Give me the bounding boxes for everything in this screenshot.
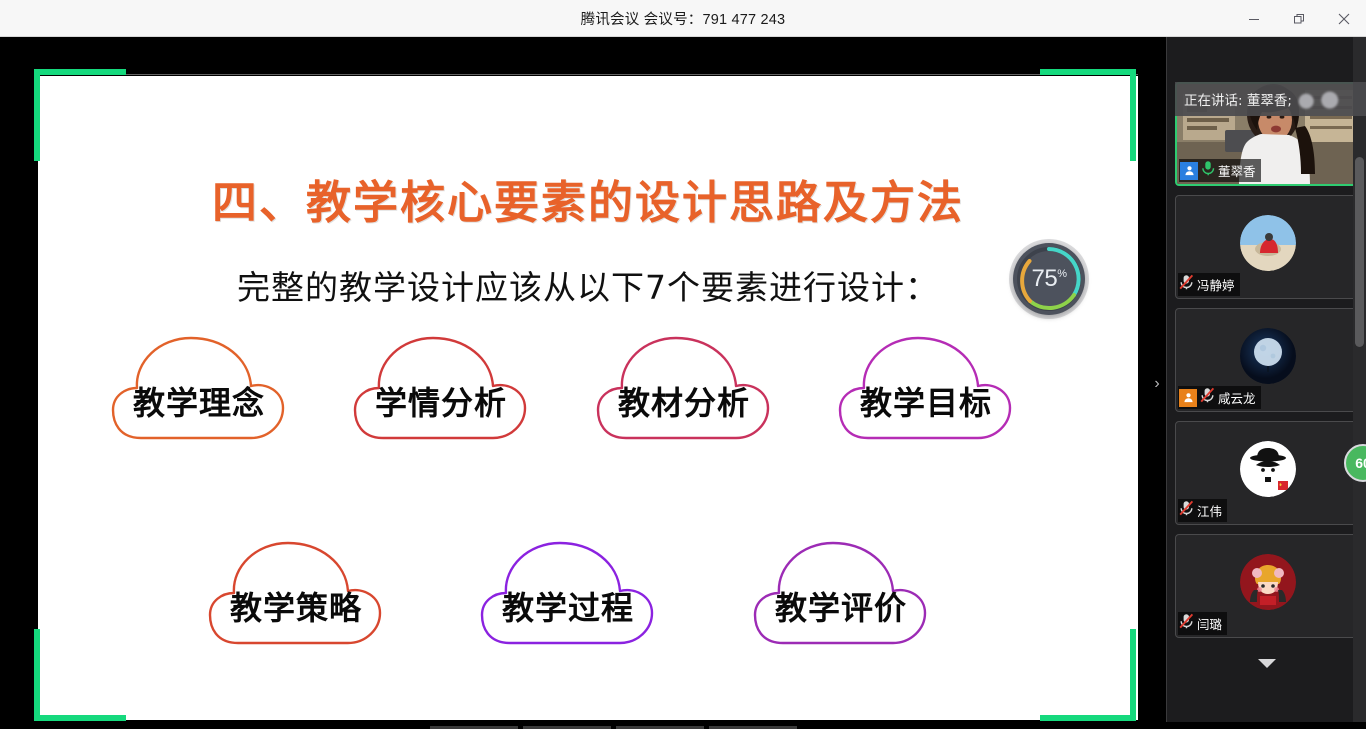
- share-frame-marker: [1040, 69, 1136, 75]
- cloud-label: 教学目标: [823, 378, 1029, 424]
- participant-footer: 江伟: [1178, 499, 1227, 522]
- cloud-shape-3: 教材分析: [581, 326, 787, 448]
- presentation-slide: 四、教学核心要素的设计思路及方法 完整的教学设计应该从以下7个要素进行设计： 7…: [38, 76, 1138, 720]
- cloud-shape-6: 教学过程: [465, 531, 671, 653]
- speaking-tooltip-text: 正在讲话: 董翠香;: [1184, 89, 1292, 109]
- share-frame-marker: [34, 69, 126, 75]
- host-badge-icon: [1180, 162, 1198, 180]
- participant-name: 冯静婷: [1197, 275, 1235, 294]
- participant-name: 江伟: [1197, 501, 1222, 520]
- microphone-muted-icon: [1200, 387, 1215, 408]
- close-button[interactable]: [1321, 0, 1366, 37]
- host-badge-icon: [1179, 389, 1197, 407]
- microphone-muted-icon: [1179, 274, 1194, 295]
- participant-tile-2[interactable]: 冯静婷: [1175, 195, 1360, 299]
- avatar: [1240, 441, 1296, 497]
- share-frame-marker: [1130, 69, 1136, 161]
- microphone-icon: [1201, 160, 1215, 181]
- participant-footer: 闫璐: [1178, 612, 1227, 635]
- participants-panel: 董翠香冯静婷咸云龙江伟闫璐 正在讲话: 董翠香;: [1166, 37, 1366, 729]
- participant-name: 闫璐: [1197, 614, 1222, 633]
- participant-name: 董翠香: [1218, 161, 1256, 180]
- cloud-label: 学情分析: [338, 378, 544, 424]
- participant-footer: 冯静婷: [1178, 273, 1240, 296]
- os-taskbar: [0, 722, 1366, 729]
- share-frame-marker: [1040, 715, 1136, 721]
- share-frame-marker: [34, 715, 126, 721]
- shared-content-letterbox: [38, 37, 1138, 75]
- progress-value: 75%: [1032, 265, 1067, 293]
- restore-button[interactable]: [1276, 0, 1321, 37]
- cloud-shape-7: 教学评价: [738, 531, 944, 653]
- share-frame-marker: [34, 629, 40, 721]
- minimize-button[interactable]: [1231, 0, 1276, 37]
- slide-subtitle: 完整的教学设计应该从以下7个要素进行设计：: [38, 261, 1138, 309]
- cloud-label: 教学理念: [96, 378, 302, 424]
- cloud-shape-1: 教学理念: [96, 326, 302, 448]
- cloud-label: 教材分析: [581, 378, 787, 424]
- blurred-names-icon: [1295, 88, 1351, 110]
- scrollbar-thumb[interactable]: [1355, 157, 1364, 347]
- share-frame-marker: [1130, 629, 1136, 721]
- cloud-label: 教学策略: [193, 583, 399, 629]
- cloud-shape-2: 学情分析: [338, 326, 544, 448]
- cloud-label: 教学过程: [465, 583, 671, 629]
- meeting-window: 腾讯会议 会议号：791 477 243 四、教学核心要素的设计思路及方法 完整…: [0, 0, 1366, 729]
- avatar: [1240, 328, 1296, 384]
- participant-name: 咸云龙: [1218, 388, 1256, 407]
- collapse-panel-chevron-icon[interactable]: ›: [1148, 360, 1166, 408]
- progress-badge: 75%: [1013, 243, 1085, 315]
- participant-tile-4[interactable]: 江伟: [1175, 421, 1360, 525]
- participant-footer: 咸云龙: [1178, 386, 1261, 409]
- avatar: [1240, 554, 1296, 610]
- microphone-muted-icon: [1179, 500, 1194, 521]
- scroll-down-button[interactable]: [1167, 652, 1366, 674]
- microphone-muted-icon: [1179, 613, 1194, 634]
- cloud-label: 教学评价: [738, 583, 944, 629]
- share-frame-marker: [34, 69, 40, 161]
- participant-tile-3[interactable]: 咸云龙: [1175, 308, 1360, 412]
- avatar: [1240, 215, 1296, 271]
- slide-title: 四、教学核心要素的设计思路及方法: [38, 166, 1138, 231]
- speaking-tooltip: 正在讲话: 董翠香;: [1175, 82, 1366, 116]
- triangle-down-icon: [1258, 659, 1276, 668]
- panel-scrollbar[interactable]: [1353, 37, 1366, 729]
- participant-tile-5[interactable]: 闫璐: [1175, 534, 1360, 638]
- cloud-shape-5: 教学策略: [193, 531, 399, 653]
- title-bar: 腾讯会议 会议号：791 477 243: [0, 0, 1366, 37]
- window-controls: [1231, 0, 1366, 37]
- participant-footer: 董翠香: [1179, 159, 1261, 182]
- cloud-shape-4: 教学目标: [823, 326, 1029, 448]
- window-title: 腾讯会议 会议号：791 477 243: [581, 8, 786, 29]
- shared-screen-stage: 四、教学核心要素的设计思路及方法 完整的教学设计应该从以下7个要素进行设计： 7…: [0, 37, 1166, 729]
